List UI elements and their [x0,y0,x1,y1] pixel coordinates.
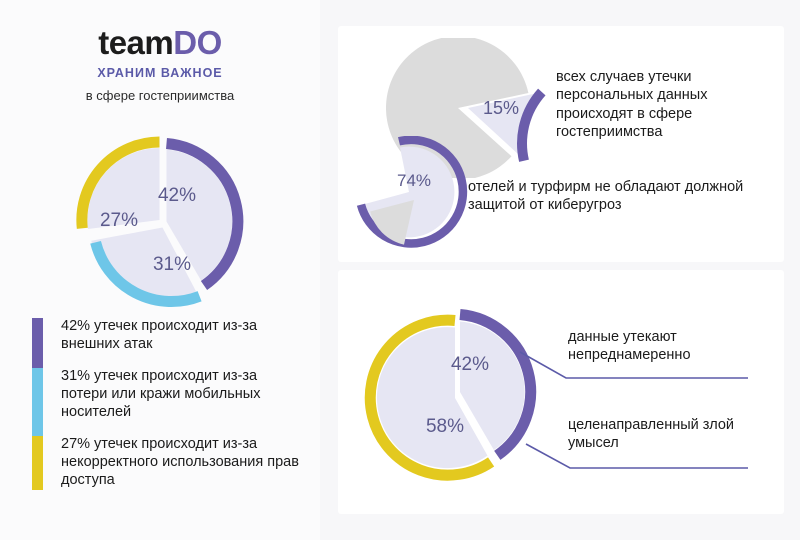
slice-74 [361,140,463,244]
stat-74-description: отелей и турфирм не обладают должной защ… [468,178,773,215]
causes-pie-svg: 42% 31% 27% [52,136,272,316]
legend: 42% утечек происходит из-за внешних атак… [32,318,302,490]
callout-unintentional: данные утекают непреднамеренно [568,328,768,365]
slice-58-label: 58% [426,416,464,437]
card-statistics-top: 15% всех случаев утечки персональных дан… [338,26,784,262]
unprotected-donut-svg: 74% [352,136,468,252]
legend-swatch-purple [32,318,43,368]
logo-word-team: team [98,24,173,61]
chart-unprotected-hotels: 74% [352,136,468,252]
slice-31-label: 31% [153,254,191,275]
legend-item: 42% утечек происходит из-за внешних атак [32,318,302,368]
card-statistics-bottom: 42% 58% данные утекают непреднамеренно ц… [338,270,784,514]
legend-item-label: 42% утечек происходит из-за внешних атак [61,318,302,368]
callout-malicious: целенаправленный злой умысел [568,416,768,453]
legend-swatch-blue [32,368,43,436]
chart-intent-of-leaks: 42% 58% [360,292,556,492]
legend-item-label: 31% утечек происходит из-за потери или к… [61,368,302,436]
slice-42-label: 42% [158,185,196,206]
slice-15-label: 15% [483,98,519,118]
chart-causes-of-leaks: 42% 31% 27% [52,136,272,316]
legend-swatch-yellow [32,436,43,490]
left-column: teamDO ХРАНИМ ВАЖНОЕ в сфере гостеприимс… [0,0,320,540]
slice-74-label: 74% [397,171,431,190]
legend-item: 27% утечек происходит из-за некорректног… [32,436,302,490]
stat-15-description: всех случаев утечки персональных данных … [556,68,771,141]
legend-item: 31% утечек происходит из-за потери или к… [32,368,302,436]
infographic-page: teamDO ХРАНИМ ВАЖНОЕ в сфере гостеприимс… [0,0,800,540]
brand-logo: teamDO ХРАНИМ ВАЖНОЕ в сфере гостеприимс… [0,26,320,103]
logo-word-do: DO [173,24,222,61]
logo-subtitle: в сфере гостеприимства [0,88,320,103]
logo-wordmark: teamDO [0,26,320,59]
logo-tagline: ХРАНИМ ВАЖНОЕ [0,66,320,80]
legend-item-label: 27% утечек происходит из-за некорректног… [61,436,302,490]
slice-27-label: 27% [100,210,138,231]
intent-pie-svg: 42% 58% [360,292,556,492]
slice-42-label: 42% [451,354,489,375]
